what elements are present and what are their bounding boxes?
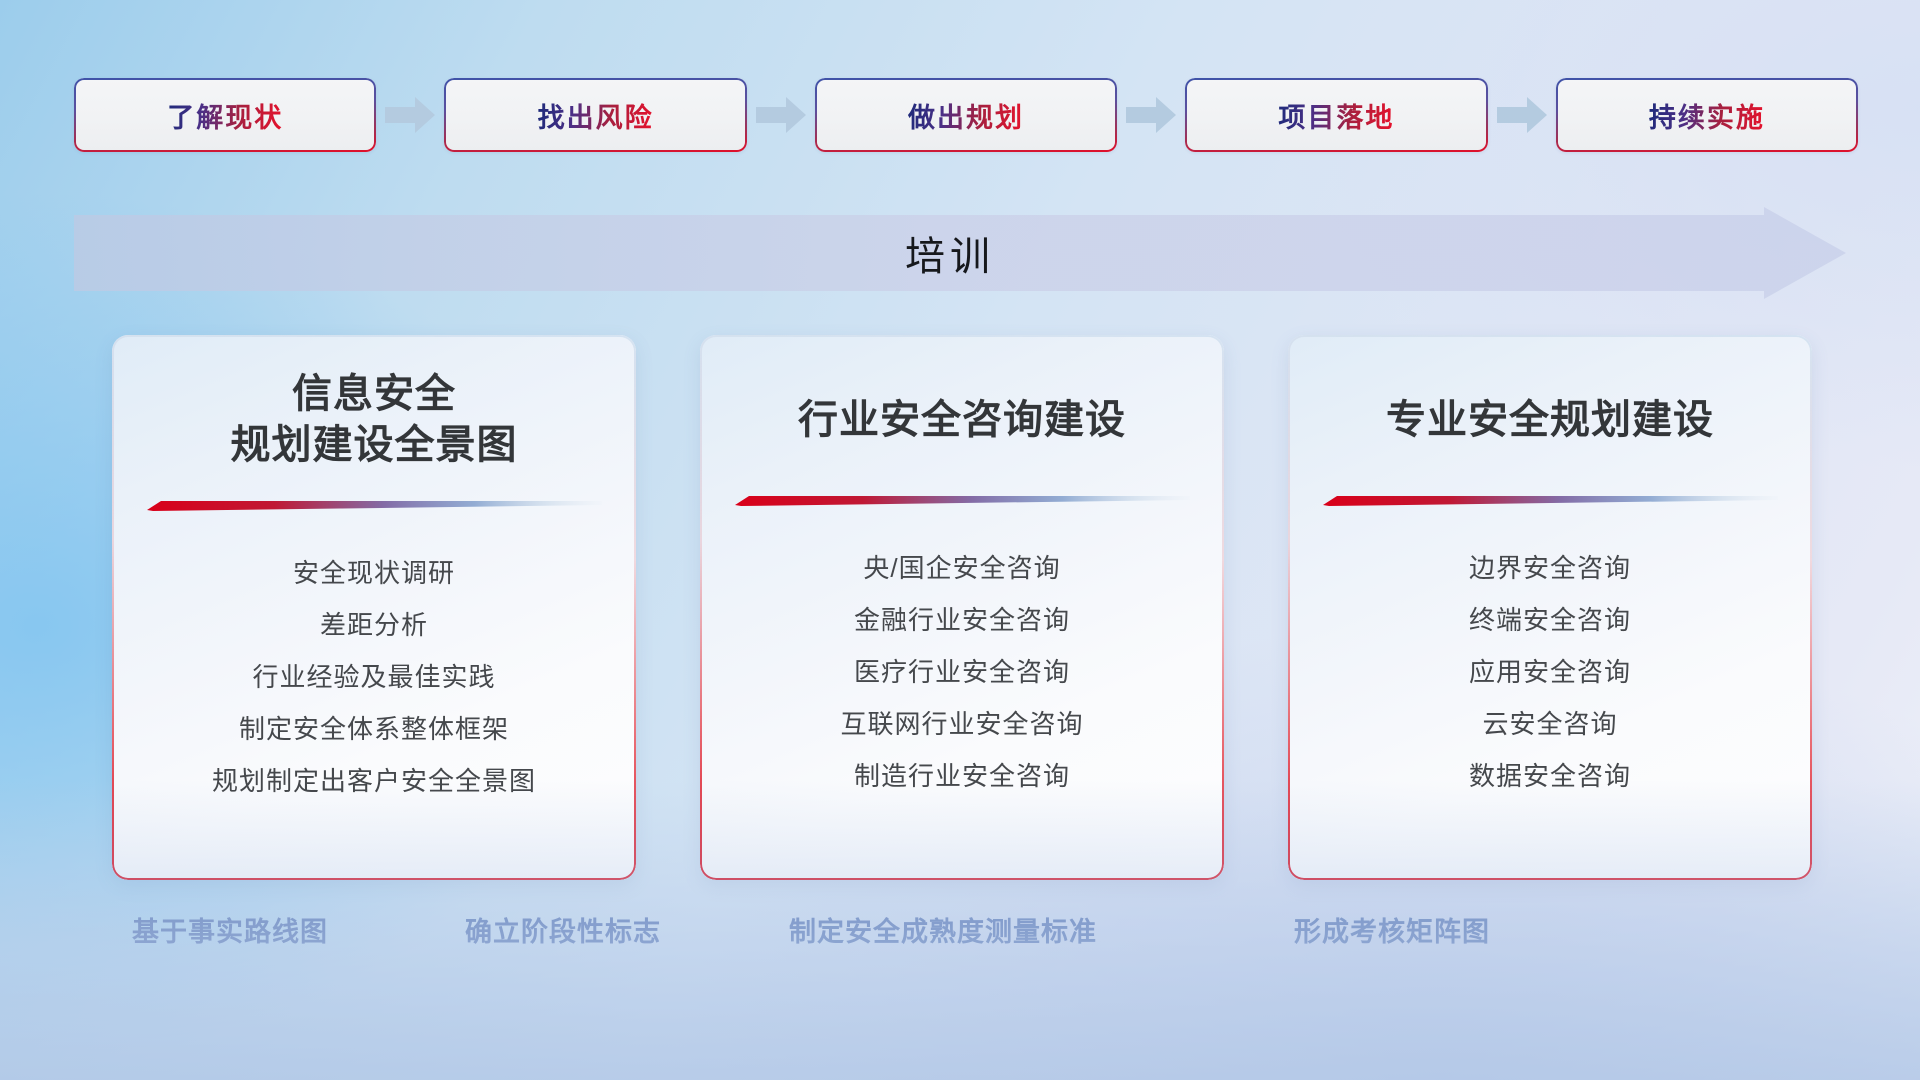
- list-item: 金融行业安全咨询: [726, 594, 1198, 646]
- list-item: 云安全咨询: [1314, 698, 1786, 750]
- step-label-4: 项目落地: [1278, 96, 1394, 135]
- card-1-list: 安全现状调研 差距分析 行业经验及最佳实践 制定安全体系整体框架 规划制定出客户…: [138, 547, 610, 807]
- list-item: 行业经验及最佳实践: [138, 651, 610, 703]
- step-box-4[interactable]: 项目落地: [1185, 78, 1487, 152]
- card-1[interactable]: 信息安全 规划建设全景图: [112, 335, 636, 880]
- list-item: 制造行业安全咨询: [726, 750, 1198, 802]
- list-item: 央/国企安全咨询: [726, 542, 1198, 594]
- list-item: 医疗行业安全咨询: [726, 646, 1198, 698]
- step-label-5: 持续实施: [1649, 96, 1765, 135]
- card-2-title: 行业安全咨询建设: [726, 395, 1198, 446]
- step-label-2: 找出风险: [538, 96, 654, 135]
- banner-title: 培训: [74, 207, 1846, 299]
- card-2-divider: [735, 492, 1190, 508]
- footer-label-4: 形成考核矩阵图: [1294, 910, 1490, 949]
- list-item: 应用安全咨询: [1314, 646, 1786, 698]
- slide-background: 了解现状 找出风险 做出规划 项目落地 持续实施: [0, 0, 1920, 1080]
- right-arrow-icon: [1494, 95, 1550, 135]
- card-3[interactable]: 专业安全规划建设: [1288, 335, 1812, 880]
- card-3-list: 边界安全咨询 终端安全咨询 应用安全咨询 云安全咨询 数据安全咨询: [1314, 542, 1786, 802]
- training-banner: 培训: [74, 207, 1846, 299]
- right-arrow-icon: [1123, 95, 1179, 135]
- card-2[interactable]: 行业安全咨询建设: [700, 335, 1224, 880]
- step-label-3: 做出规划: [908, 96, 1024, 135]
- list-item: 安全现状调研: [138, 547, 610, 599]
- list-item: 边界安全咨询: [1314, 542, 1786, 594]
- footer-label-row: 基于事实路线图 确立阶段性标志 制定安全成熟度测量标准 形成考核矩阵图: [0, 910, 1920, 966]
- right-arrow-icon: [753, 95, 809, 135]
- list-item: 规划制定出客户安全全景图: [138, 755, 610, 807]
- footer-label-1: 基于事实路线图: [132, 910, 328, 949]
- process-step-row: 了解现状 找出风险 做出规划 项目落地 持续实施: [74, 78, 1858, 152]
- step-box-2[interactable]: 找出风险: [444, 78, 746, 152]
- right-arrow-icon: [382, 95, 438, 135]
- card-1-title: 信息安全 规划建设全景图: [138, 369, 610, 471]
- list-item: 制定安全体系整体框架: [138, 703, 610, 755]
- card-row: 信息安全 规划建设全景图: [112, 335, 1812, 880]
- card-2-list: 央/国企安全咨询 金融行业安全咨询 医疗行业安全咨询 互联网行业安全咨询 制造行…: [726, 542, 1198, 802]
- list-item: 终端安全咨询: [1314, 594, 1786, 646]
- list-item: 互联网行业安全咨询: [726, 698, 1198, 750]
- card-3-divider: [1323, 492, 1778, 508]
- list-item: 差距分析: [138, 599, 610, 651]
- step-box-3[interactable]: 做出规划: [815, 78, 1117, 152]
- footer-label-2: 确立阶段性标志: [465, 910, 661, 949]
- list-item: 数据安全咨询: [1314, 750, 1786, 802]
- step-box-1[interactable]: 了解现状: [74, 78, 376, 152]
- step-box-5[interactable]: 持续实施: [1556, 78, 1858, 152]
- card-1-divider: [147, 497, 602, 513]
- step-label-1: 了解现状: [167, 96, 283, 135]
- footer-label-3: 制定安全成熟度测量标准: [789, 910, 1097, 949]
- card-3-title: 专业安全规划建设: [1314, 395, 1786, 446]
